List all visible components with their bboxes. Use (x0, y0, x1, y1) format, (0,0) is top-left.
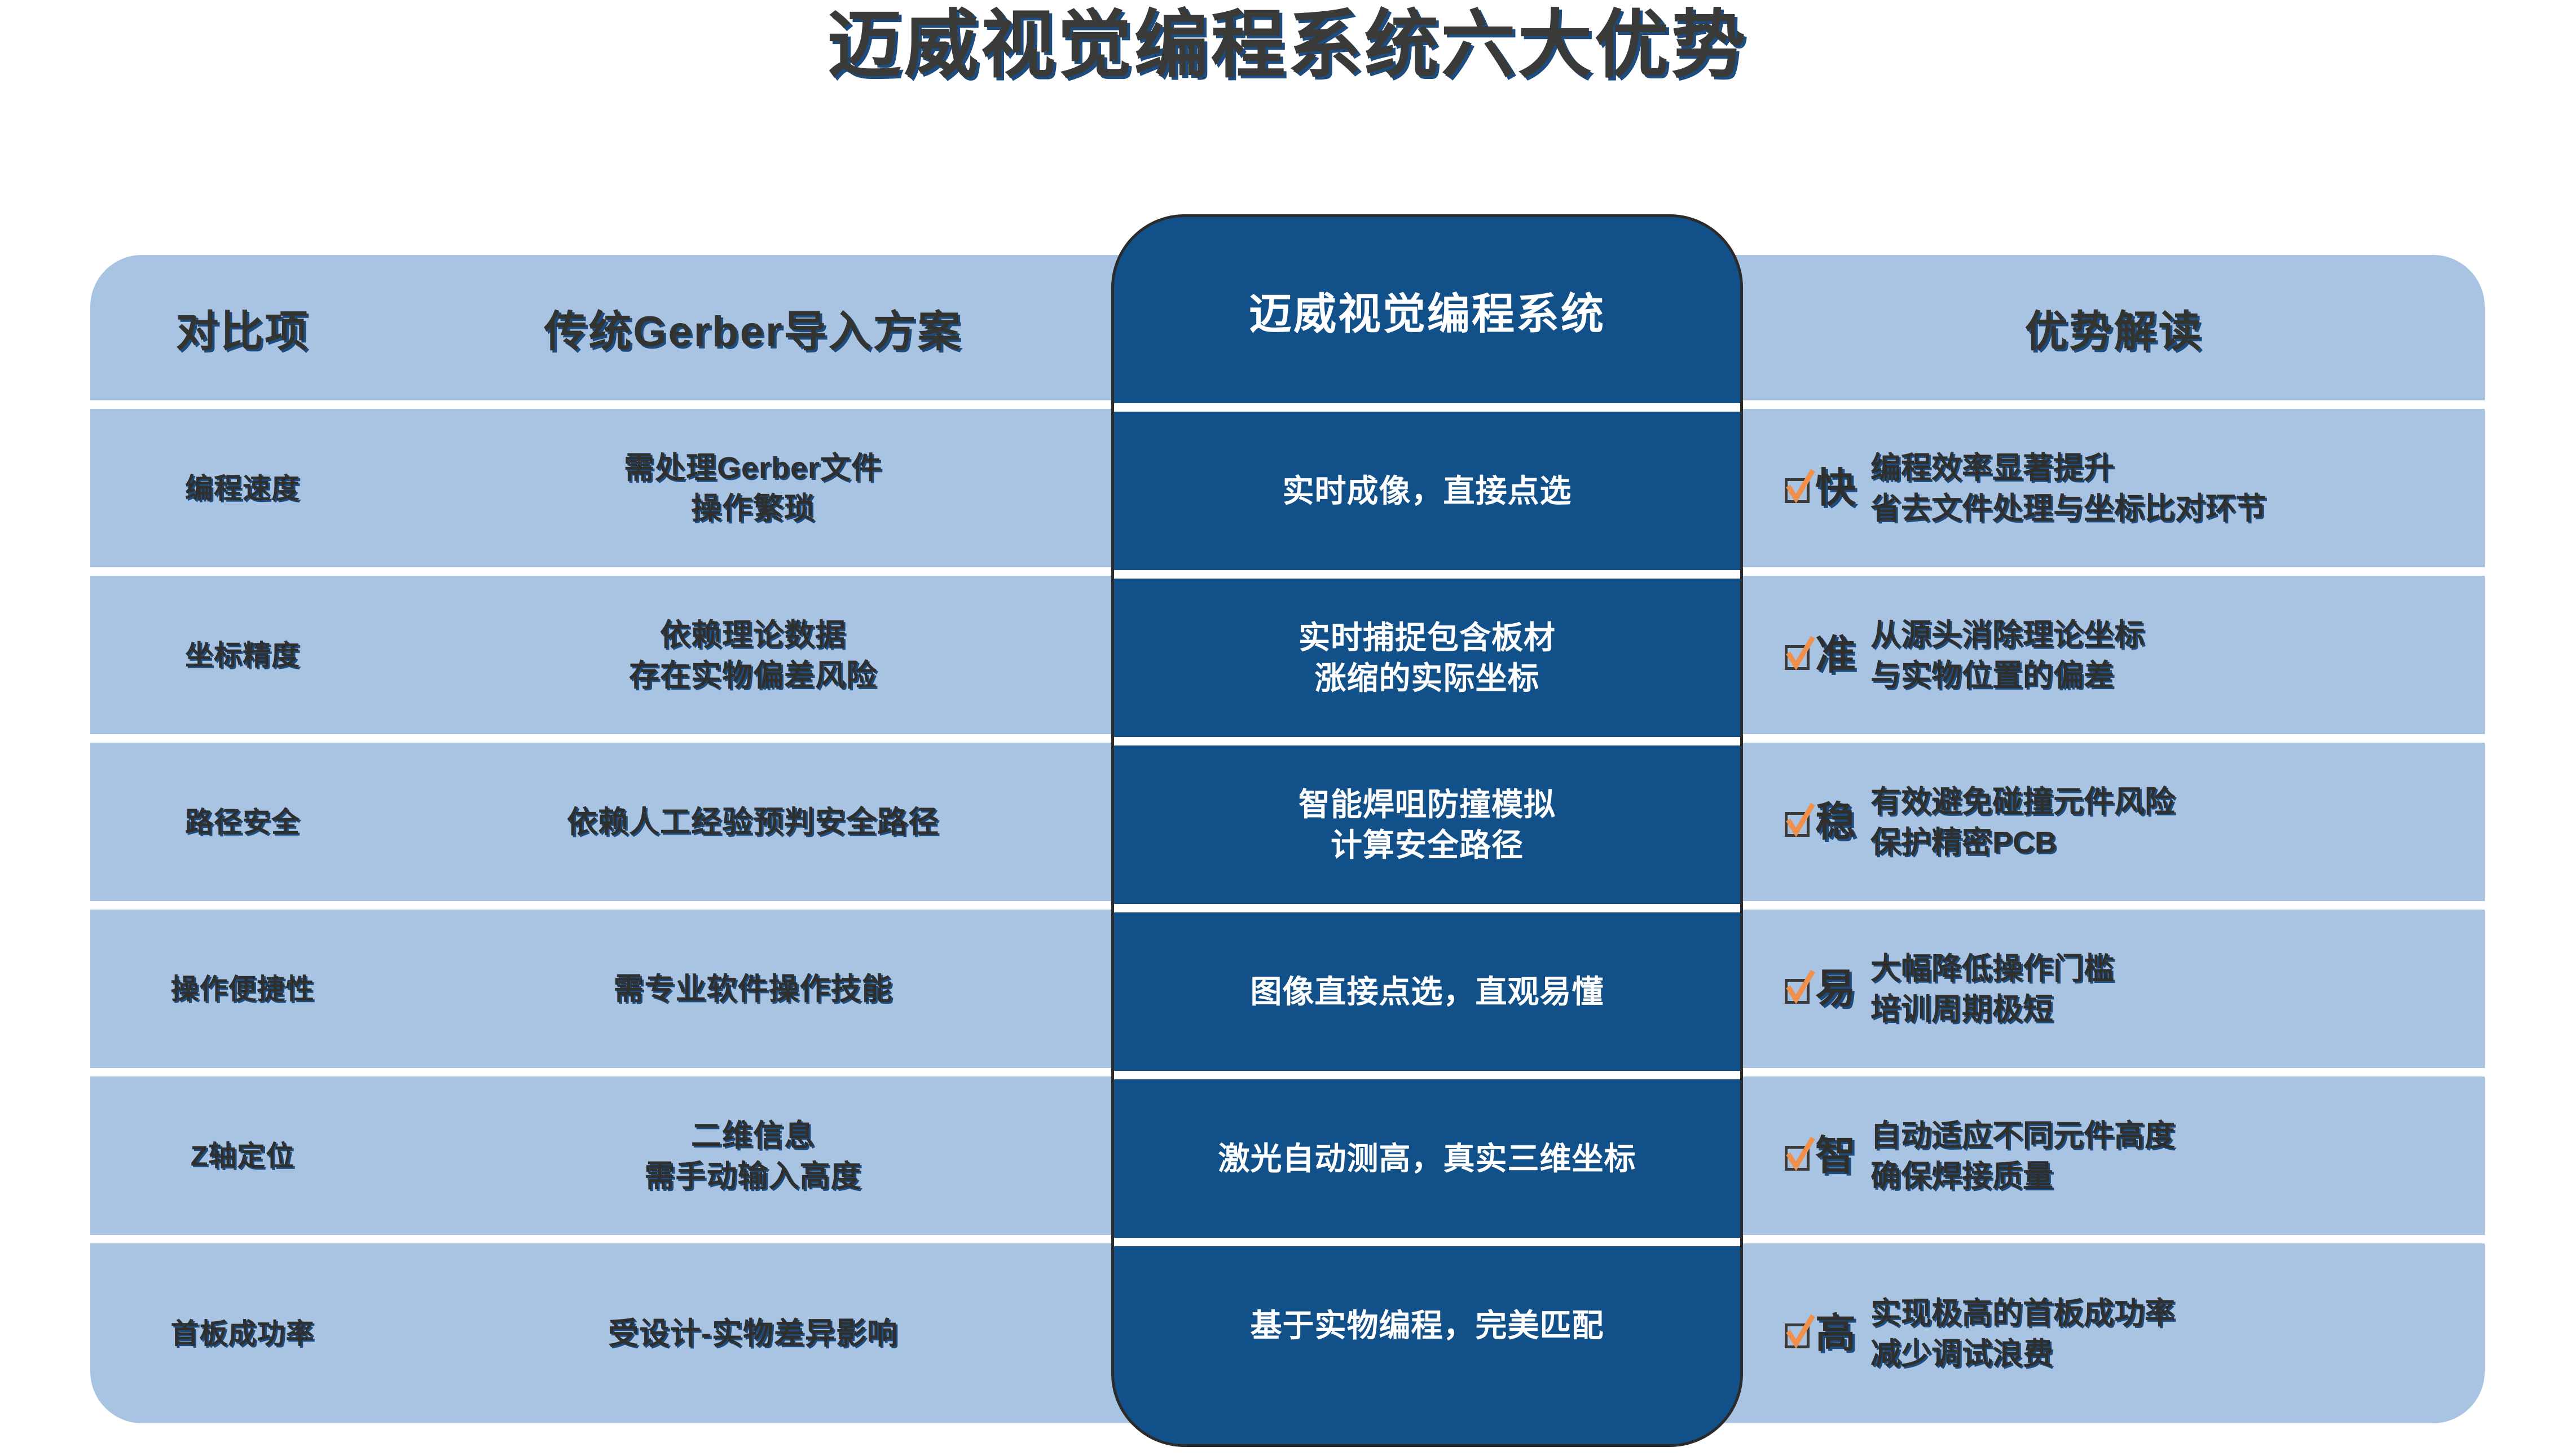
reading-line: 编程效率显著提升 (1870, 448, 2266, 488)
row-divider (1114, 1071, 1740, 1079)
row-cell-item: 操作便捷性 (90, 910, 395, 1068)
row-item-label: 首板成功率 (171, 1313, 315, 1354)
highlight-cell: 实时成像，直接点选 (1114, 412, 1740, 570)
highlight-cell: 基于实物编程，完美匹配 (1114, 1246, 1740, 1405)
row-cell-traditional: 依赖人工经验预判安全路径 (395, 743, 1111, 901)
row-cell-item: 坐标精度 (90, 576, 395, 734)
ballot-box-with-check-icon (1782, 973, 1814, 1005)
row-cell-traditional: 受设计-实物差异影响 (395, 1243, 1111, 1423)
header-label-reading: 优势解读 (2025, 297, 2203, 359)
header-label-item: 对比项 (176, 297, 310, 359)
row-cell-item: 路径安全 (90, 743, 395, 901)
highlight-line: 实时成像，直接点选 (1283, 471, 1572, 511)
row-divider (1114, 403, 1740, 412)
header-cell-reading: 优势解读 (1743, 255, 2485, 400)
traditional-line: 操作繁琐 (691, 488, 815, 529)
advantage-badge: 易 (1782, 969, 1856, 1009)
row-cell-reading: 准 从源头消除理论坐标 与实物位置的偏差 (1743, 576, 2485, 734)
reading-line: 大幅降低操作门槛 (1870, 948, 2114, 989)
reading-line: 与实物位置的偏差 (1870, 655, 2145, 696)
traditional-line: 存在实物偏差风险 (629, 655, 877, 696)
reading-line: 省去文件处理与坐标比对环节 (1870, 488, 2266, 529)
reading-line: 确保焊接质量 (1870, 1156, 2175, 1197)
page-title: 迈威视觉编程系统六大优势 (0, 0, 2575, 90)
row-divider (1114, 1238, 1740, 1246)
highlight-line: 计算安全路径 (1331, 825, 1524, 866)
highlight-cell: 图像直接点选，直观易懂 (1114, 912, 1740, 1071)
row-divider (1114, 570, 1740, 579)
row-cell-reading: 高 实现极高的首板成功率 减少调试浪费 (1743, 1243, 2485, 1423)
advantage-badge: 准 (1782, 635, 1856, 676)
traditional-line: 依赖理论数据 (660, 615, 846, 655)
row-cell-traditional: 需专业软件操作技能 (395, 910, 1111, 1068)
reading-line: 保护精密PCB (1870, 822, 2175, 863)
reading-line: 有效避免碰撞元件风险 (1870, 782, 2175, 822)
advantage-badge: 智 (1782, 1136, 1856, 1176)
traditional-line: 需处理Gerber文件 (624, 448, 882, 488)
badge-char: 易 (1815, 969, 1856, 1009)
row-cell-item: 首板成功率 (90, 1243, 395, 1423)
reading-line: 培训周期极短 (1870, 989, 2114, 1030)
badge-char: 稳 (1815, 802, 1856, 842)
row-cell-traditional: 二维信息 需手动输入高度 (395, 1076, 1111, 1235)
highlight-line: 智能焊咀防撞模拟 (1298, 784, 1556, 825)
header-label-traditional: 传统Gerber导入方案 (544, 297, 962, 359)
highlight-line: 实时捕捉包含板材 (1298, 617, 1556, 658)
advantage-badge: 稳 (1782, 802, 1856, 842)
highlight-line: 涨缩的实际坐标 (1315, 658, 1540, 699)
badge-char: 智 (1815, 1136, 1856, 1176)
advantage-badge: 高 (1782, 1313, 1856, 1354)
ballot-box-with-check-icon (1782, 1318, 1814, 1349)
traditional-line: 依赖人工经验预判安全路径 (567, 802, 939, 842)
ballot-box-with-check-icon (1782, 639, 1814, 671)
header-label-highlight: 迈威视觉编程系统 (1249, 279, 1605, 341)
highlight-header-cell: 迈威视觉编程系统 (1114, 217, 1740, 403)
advantage-badge: 快 (1782, 468, 1856, 509)
row-item-label: 操作便捷性 (171, 969, 315, 1009)
highlight-cell: 实时捕捉包含板材 涨缩的实际坐标 (1114, 579, 1740, 737)
reading-line: 实现极高的首板成功率 (1870, 1293, 2175, 1334)
row-cell-item: 编程速度 (90, 409, 395, 567)
row-cell-reading: 智 自动适应不同元件高度 确保焊接质量 (1743, 1076, 2485, 1235)
row-cell-item: Z轴定位 (90, 1076, 395, 1235)
badge-char: 准 (1815, 635, 1856, 676)
header-cell-traditional: 传统Gerber导入方案 (395, 255, 1111, 400)
ballot-box-with-check-icon (1782, 1140, 1814, 1172)
traditional-line: 需手动输入高度 (645, 1156, 862, 1197)
row-divider (1114, 904, 1740, 912)
badge-char: 快 (1815, 468, 1856, 509)
traditional-line: 二维信息 (691, 1115, 815, 1156)
highlight-line: 图像直接点选，直观易懂 (1251, 972, 1604, 1012)
row-cell-reading: 快 编程效率显著提升 省去文件处理与坐标比对环节 (1743, 409, 2485, 567)
highlight-line: 基于实物编程，完美匹配 (1251, 1305, 1604, 1346)
row-item-label: Z轴定位 (191, 1136, 295, 1176)
row-cell-reading: 稳 有效避免碰撞元件风险 保护精密PCB (1743, 743, 2485, 901)
row-item-label: 编程速度 (185, 468, 300, 509)
reading-line: 自动适应不同元件高度 (1870, 1115, 2175, 1156)
highlight-cell: 激光自动测高，真实三维坐标 (1114, 1079, 1740, 1238)
ballot-box-with-check-icon (1782, 473, 1814, 504)
traditional-line: 需专业软件操作技能 (614, 969, 893, 1009)
row-cell-traditional: 依赖理论数据 存在实物偏差风险 (395, 576, 1111, 734)
header-cell-item: 对比项 (90, 255, 395, 400)
highlight-cell: 智能焊咀防撞模拟 计算安全路径 (1114, 745, 1740, 904)
badge-char: 高 (1815, 1313, 1856, 1354)
traditional-line: 受设计-实物差异影响 (608, 1313, 898, 1354)
row-cell-reading: 易 大幅降低操作门槛 培训周期极短 (1743, 910, 2485, 1068)
row-item-label: 路径安全 (185, 802, 300, 842)
row-cell-traditional: 需处理Gerber文件 操作繁琐 (395, 409, 1111, 567)
reading-line: 从源头消除理论坐标 (1870, 615, 2145, 655)
ballot-box-with-check-icon (1782, 806, 1814, 838)
reading-line: 减少调试浪费 (1870, 1334, 2175, 1374)
row-item-label: 坐标精度 (185, 635, 300, 676)
row-divider (1114, 737, 1740, 745)
highlight-column-panel: 迈威视觉编程系统 实时成像，直接点选 实时捕捉包含板材 涨缩的实际坐标 智能焊咀… (1111, 214, 1743, 1447)
highlight-line: 激光自动测高，真实三维坐标 (1218, 1139, 1636, 1179)
